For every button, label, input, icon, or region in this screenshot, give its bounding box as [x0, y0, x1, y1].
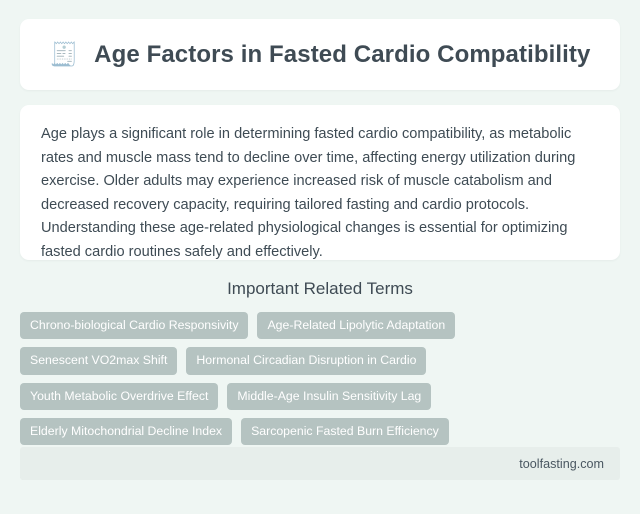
footer-site-name: toolfasting.com [519, 457, 604, 471]
header-card: 🧾 Age Factors in Fasted Cardio Compatibi… [20, 19, 620, 90]
related-term-tag[interactable]: Youth Metabolic Overdrive Effect [20, 383, 218, 410]
page-title: Age Factors in Fasted Cardio Compatibili… [94, 41, 590, 69]
related-term-tag[interactable]: Elderly Mitochondrial Decline Index [20, 418, 232, 445]
related-term-tag[interactable]: Senescent VO2max Shift [20, 347, 177, 374]
related-term-tag[interactable]: Age-Related Lipolytic Adaptation [257, 312, 455, 339]
page-root: 🧾 Age Factors in Fasted Cardio Compatibi… [0, 0, 640, 514]
description-paragraph: Age plays a significant role in determin… [41, 123, 599, 264]
related-term-tag[interactable]: Middle-Age Insulin Sensitivity Lag [227, 383, 431, 410]
receipt-icon: 🧾 [50, 43, 79, 66]
description-card: Age plays a significant role in determin… [20, 105, 620, 260]
footer-bar: toolfasting.com [20, 447, 620, 480]
header-inner: 🧾 Age Factors in Fasted Cardio Compatibi… [50, 24, 591, 84]
related-terms-heading: Important Related Terms [20, 279, 620, 299]
related-term-tag[interactable]: Chrono-biological Cardio Responsivity [20, 312, 248, 339]
related-term-tag[interactable]: Hormonal Circadian Disruption in Cardio [186, 347, 426, 374]
related-term-tag[interactable]: Sarcopenic Fasted Burn Efficiency [241, 418, 449, 445]
